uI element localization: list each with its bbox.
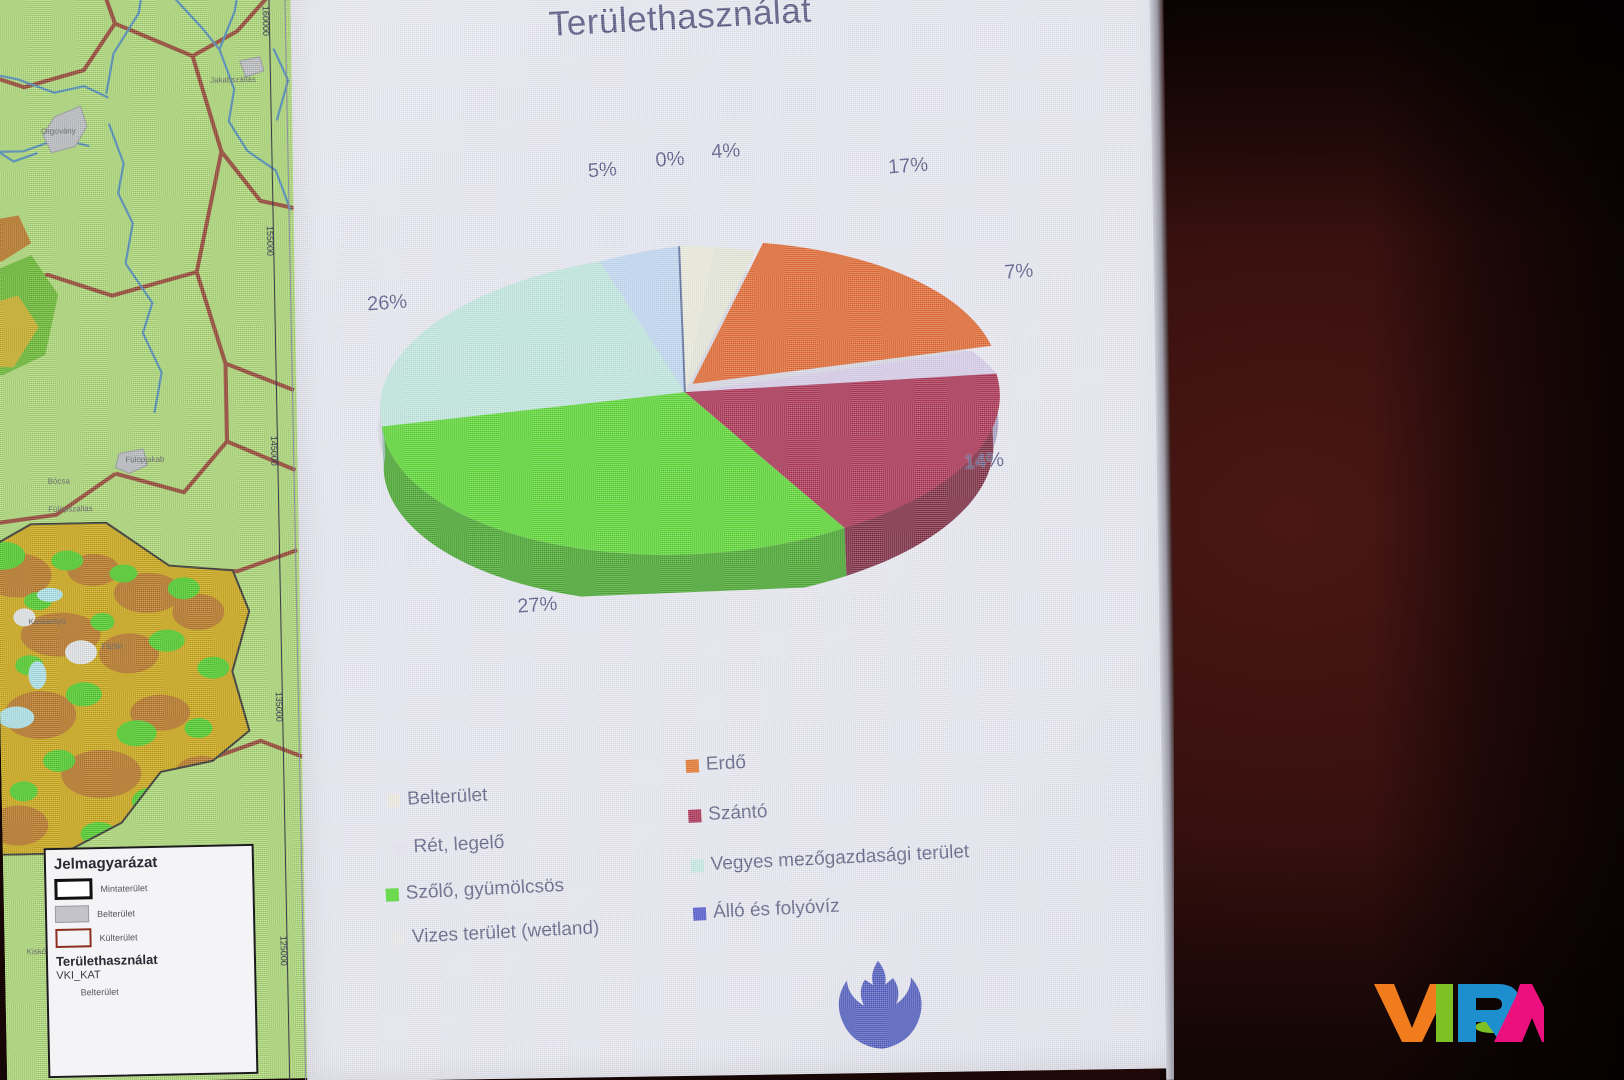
legend-swatch-icon	[686, 759, 700, 773]
swatch-kulterulet	[55, 928, 91, 948]
swatch-mintaterulet	[54, 878, 92, 900]
map-place-label: Bócsa	[48, 476, 70, 485]
map-legend-row: Mintaterület	[54, 875, 244, 900]
map-legend-label: Belterület	[97, 908, 135, 919]
map-place-label: Jakabszállás	[210, 75, 256, 85]
legend-swatch-icon	[693, 907, 707, 921]
map-place-label: Fülöpjakab	[125, 455, 164, 465]
legend-label: Álló és folyóvíz	[713, 896, 841, 924]
legend-item-allo-es-folyoviz[interactable]: Álló és folyóvíz	[693, 896, 841, 925]
pie-label-27: 27%	[517, 593, 559, 619]
legend-label: Szőlő, gyümölcsös	[405, 875, 564, 905]
pie-label-4: 4%	[710, 139, 741, 164]
map-place-label: Tázlár	[101, 641, 123, 650]
legend-label: Belterület	[407, 785, 488, 811]
legend-item-erdo[interactable]: Erdő	[685, 752, 746, 777]
map-legend-field: VKI_KAT	[56, 966, 246, 982]
presentation-photo: Orgovány Jakabszállás Fülöpjakab Bócsa F…	[0, 0, 1624, 1080]
map-place-label: Orgovány	[41, 126, 76, 136]
axis-tick-label: 160000	[261, 6, 272, 36]
pie-chart-graphic	[360, 149, 1037, 605]
axis-tick-label: 125000	[278, 936, 289, 966]
legend-swatch-icon	[393, 841, 407, 855]
legend-item-szolo-gyumolcsos[interactable]: Szőlő, gyümölcsös	[385, 875, 564, 906]
swatch-belterulet	[55, 905, 89, 923]
map-legend: Jelmagyarázat Mintaterület Belterület Kü…	[44, 844, 259, 1078]
chart-legend: Belterület Rét, legelő Szőlő, gyümölcsös…	[365, 724, 1074, 958]
map-legend-label: Mintaterület	[100, 883, 147, 894]
legend-label: Rét, legelő	[413, 832, 505, 858]
legend-swatch-icon	[392, 931, 406, 945]
legend-swatch-icon	[688, 809, 702, 823]
legend-swatch-icon	[387, 793, 401, 807]
axis-tick-label: 145000	[269, 436, 280, 466]
axis-tick-label: 155000	[265, 226, 276, 256]
pie-label-14: 14%	[963, 449, 1005, 475]
legend-swatch-icon	[690, 859, 704, 873]
map-legend-row: Külterület	[55, 925, 245, 948]
map-legend-title: Jelmagyarázat	[54, 852, 244, 873]
projection-screen: Orgovány Jakabszállás Fülöpjakab Bócsa F…	[0, 0, 1174, 1080]
pie-label-26: 26%	[366, 291, 408, 317]
legend-item-szanto[interactable]: Szántó	[688, 801, 768, 827]
pie-label-7: 7%	[1004, 260, 1035, 285]
map-legend-label: Külterület	[99, 932, 137, 943]
vira-logo	[1372, 978, 1544, 1044]
legend-swatch-icon	[386, 888, 400, 902]
wall-shadow-top	[1160, 0, 1624, 240]
pie-label-17: 17%	[887, 154, 929, 180]
legend-label: Vegyes mezőgazdasági terület	[710, 841, 970, 876]
pie-label-5: 5%	[587, 158, 618, 183]
map-place-label: Kaskantyú	[28, 617, 66, 627]
page-title: Területhasználat	[548, 0, 813, 45]
slide-panel: Területhasználat	[290, 0, 1174, 1080]
pie-label-0: 0%	[655, 148, 686, 173]
legend-label: Szántó	[708, 801, 768, 826]
legend-item-ret-legelo[interactable]: Rét, legelő	[393, 832, 505, 859]
pie-chart: 5% 0% 4% 17% 7% 14% 27% 26%	[360, 149, 1037, 605]
legend-item-vegyes-mezogazdasagi[interactable]: Vegyes mezőgazdasági terület	[690, 841, 970, 877]
legend-item-vizes-terulet[interactable]: Vizes terület (wetland)	[391, 917, 599, 949]
organization-emblem-icon	[824, 948, 937, 1061]
axis-tick-label: 135000	[274, 692, 285, 722]
map-place-label: Fülöpszállás	[48, 504, 93, 514]
map-legend-field-item: Belterület	[81, 984, 247, 997]
legend-label: Vizes terület (wetland)	[411, 917, 599, 948]
map-legend-row: Belterület	[55, 902, 245, 923]
legend-label: Erdő	[705, 752, 746, 776]
legend-item-belterulet[interactable]: Belterület	[387, 785, 488, 812]
